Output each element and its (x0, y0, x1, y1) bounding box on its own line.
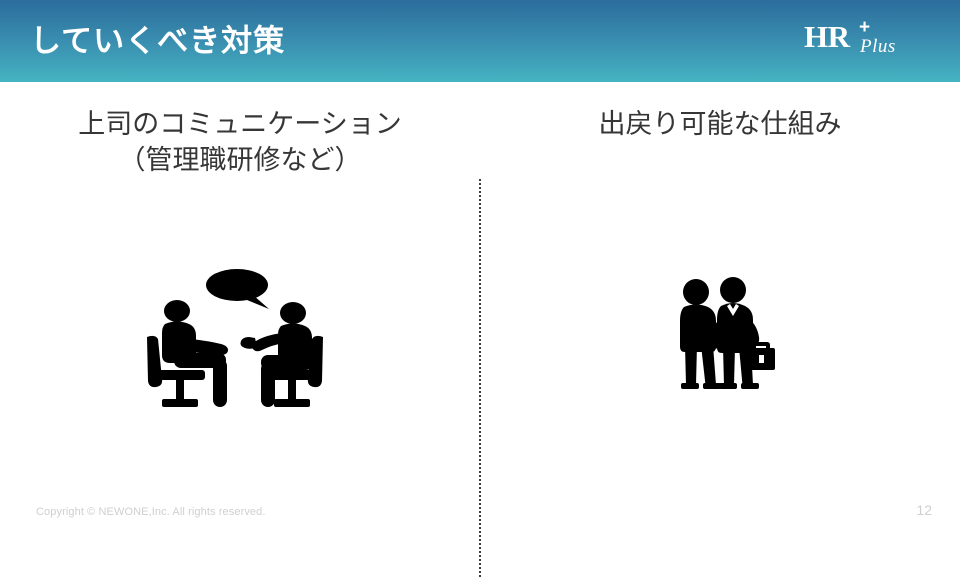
page-title: していくべき対策 (30, 26, 285, 57)
column-left-heading: 上司のコミュニケーション （管理職研修など） (0, 107, 480, 178)
column-right: 出戻り可能な仕組み (480, 82, 960, 492)
column-left-icon-wrap (0, 262, 480, 412)
logo-plus-superscript-icon: + (859, 18, 870, 37)
hrplus-logo: HR + Plus (804, 18, 924, 64)
slide: していくべき対策 HR + Plus 上司のコミュニケーション （管理職研修など… (0, 0, 960, 540)
column-right-heading-line1: 出戻り可能な仕組み (480, 107, 960, 143)
two-people-talking-icon (135, 267, 345, 407)
column-left-heading-line1: 上司のコミュニケーション (0, 107, 480, 143)
column-right-heading: 出戻り可能な仕組み (480, 107, 960, 143)
logo-hr-text: HR (804, 21, 850, 52)
page-number: 12 (916, 502, 932, 518)
column-right-icon-wrap (480, 267, 960, 397)
slide-header: していくべき対策 HR + Plus (0, 0, 960, 82)
column-left: 上司のコミュニケーション （管理職研修など） (0, 82, 480, 492)
slide-footer: Copyright © NEWONE,Inc. All rights reser… (0, 492, 960, 540)
copyright-text: Copyright © NEWONE,Inc. All rights reser… (36, 506, 266, 518)
column-left-heading-line2: （管理職研修など） (0, 143, 480, 179)
slide-body: 上司のコミュニケーション （管理職研修など） (0, 82, 960, 492)
logo-plus-word: Plus (860, 37, 896, 56)
business-handshake-icon (663, 275, 778, 390)
